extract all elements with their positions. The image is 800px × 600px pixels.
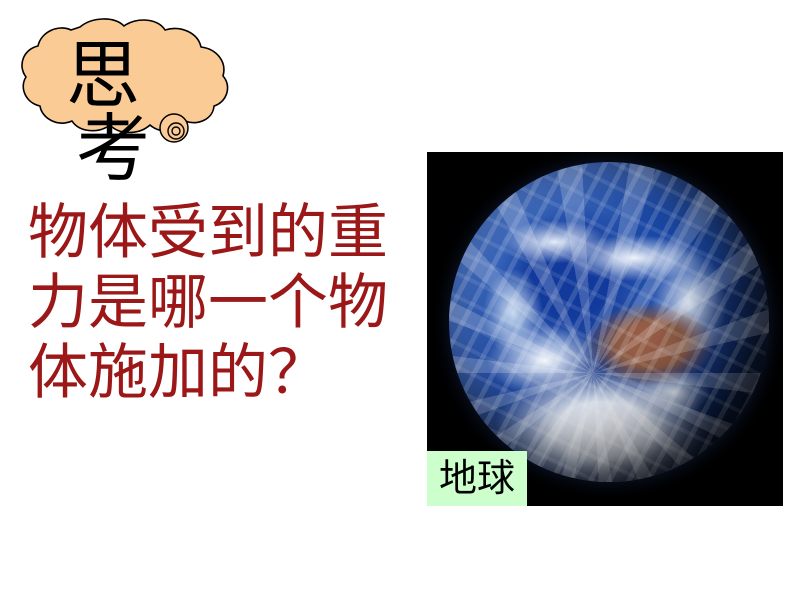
earth-shadow-terminator — [449, 162, 769, 482]
earth-caption-label: 地球 — [427, 451, 527, 506]
slide-canvas: 思 考 物体受到的重力是哪一个物体施加的？ 地球 — [0, 0, 800, 600]
thought-bubble-tail — [160, 114, 188, 142]
heading-character-kao: 考 — [76, 113, 150, 187]
earth-cloud-swirl — [449, 162, 769, 482]
heading-character-si: 思 — [66, 40, 140, 114]
question-text: 物体受到的重力是哪一个物体施加的？ — [28, 198, 398, 408]
earth-globe — [449, 162, 769, 482]
